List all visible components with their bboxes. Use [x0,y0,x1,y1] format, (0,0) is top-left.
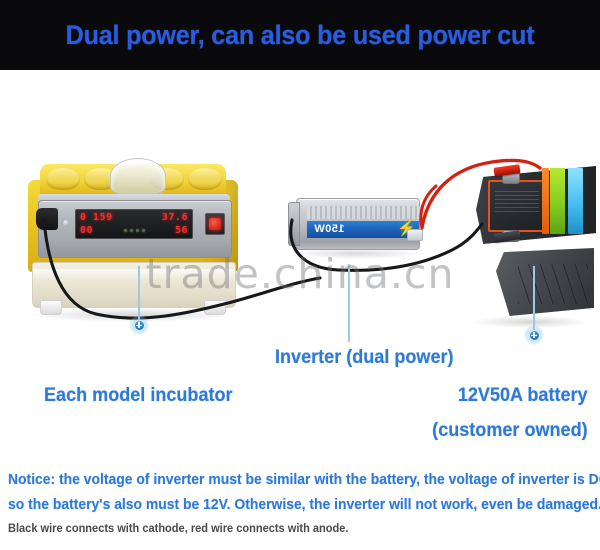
marker-battery[interactable] [524,325,544,345]
incubator-power-switch [205,213,225,235]
header-banner: Dual power, can also be used power cut [0,0,600,70]
battery-cyan-strip [568,168,583,234]
banner-title: Dual power, can also be used power cut [66,20,535,51]
notice-line-1: Notice: the voltage of inverter must be … [8,472,600,488]
notice-small-print: Black wire connects with cathode, red wi… [8,523,348,535]
inverter-heatsink-ribs [307,206,425,219]
power-switch-light-icon [209,218,221,230]
led-humidity-value: 56 [175,226,188,236]
inverter-wattage-text: 150W [314,224,344,235]
notice-line-2: so the battery's also must be 12V. Other… [8,497,600,513]
egg-cup [188,168,222,190]
battery-front-label [488,180,546,232]
led-dot [130,229,133,232]
battery-orange-strip [542,168,549,234]
caption-incubator: Each model incubator [44,385,233,407]
leader-line-inverter [348,264,350,342]
product-inverter: 150W ⚡ [288,192,428,262]
led-status-dots [124,229,145,232]
plus-circle-icon [529,330,540,341]
led-row-top: 0 159 37.6 [80,211,188,224]
battery-lower-case [496,248,594,316]
inverter-end-cap [288,202,300,246]
leader-line-battery [533,266,535,330]
led-row-bottom: 00 56 [80,224,188,237]
incubator-control-panel: 0 159 37.6 00 56 [38,200,232,258]
caption-battery-line2: (customer owned) [433,420,588,442]
plus-circle-icon [134,320,145,331]
marker-incubator[interactable] [129,315,149,335]
caption-battery-line1: 12V50A battery [458,385,588,407]
led-dot [142,229,145,232]
egg-cup [46,168,80,190]
incubator-clear-dome [110,158,166,194]
led-counter-value: 00 [80,226,93,236]
product-battery [462,144,598,330]
battery-green-strip [550,168,565,234]
led-dot [136,229,139,232]
led-dot [124,229,127,232]
incubator-foot [40,300,62,315]
incubator-power-plug [36,208,58,230]
caption-inverter: Inverter (dual power) [275,347,454,369]
product-banner-page: Dual power, can also be used power cut 0… [0,0,600,550]
led-temperature-value: 37.6 [162,213,188,223]
led-days-value: 0 159 [80,213,113,223]
incubator-led-display: 0 159 37.6 00 56 [75,209,193,239]
indicator-light-icon [63,220,69,226]
product-stage: 0 159 37.6 00 56 [0,70,600,470]
inverter-body: 150W ⚡ [296,198,420,250]
inverter-output-terminal [407,229,423,241]
product-incubator: 0 159 37.6 00 56 [22,158,244,328]
footer-notice: Notice: the voltage of inverter must be … [0,470,600,550]
incubator-foot [204,300,226,315]
